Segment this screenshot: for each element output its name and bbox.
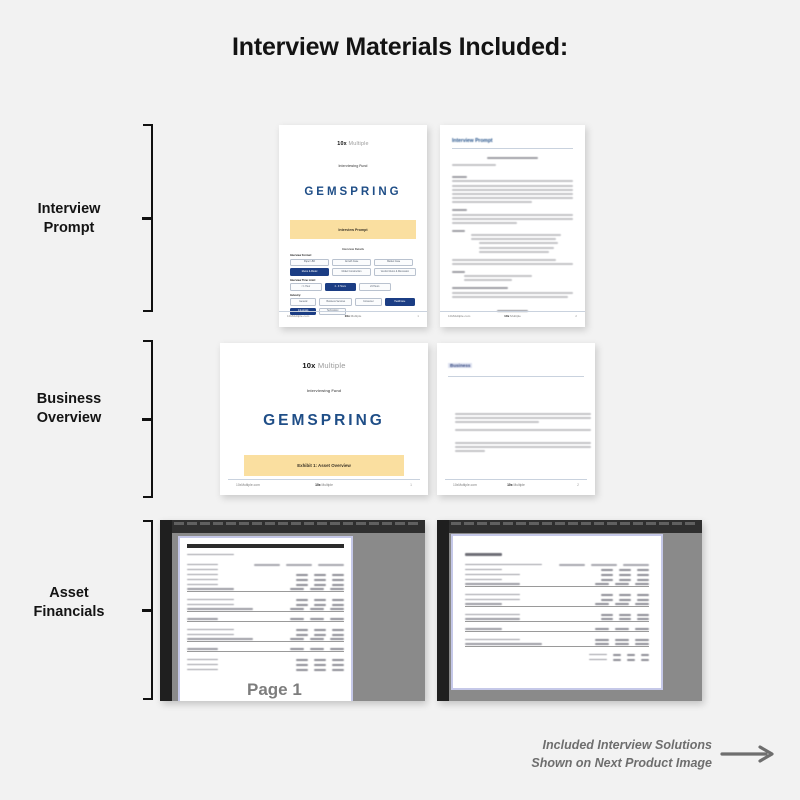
doc-subbrand: Interviewing Fund [231,388,417,393]
footer-note-line1: Included Interview Solutions [531,737,712,755]
pill-option-selected[interactable]: Memo & Model [290,268,329,275]
doc-banner-exhibit: Exhibit 1: Asset Overview [244,455,404,476]
pill-option-selected[interactable]: 2 - 3 Hours [325,283,357,290]
pill-option[interactable]: < 1 Hour [290,283,322,290]
doc-footer-page-number: 1 [375,314,419,318]
section-label-line1: Business [10,390,128,409]
spreadsheet-row-gutter [160,520,172,701]
doc-brand: 10x Multiple [231,361,417,370]
pill-row: < 1 Hour 2 - 3 Hours 24 Hours [290,283,416,290]
pill-row: General Business Services Consumer Healt… [290,298,416,305]
section-business-overview: Business Overview 10x Multiple Interview… [0,338,800,503]
section-label-asset-financials: Asset Financials [10,584,128,622]
doc-brand: 10x Multiple [290,141,416,147]
doc-thumbnail-overview-cover[interactable]: 10x Multiple Interviewing Fund GEMSPRING… [220,343,428,495]
doc-pill-groups: Interview Format: Paper LBO Growth Case … [290,254,416,315]
doc-thumbnail-overview-page2[interactable]: Business 10xMultiple.com 10x Multiple 2 [437,343,595,495]
pill-option[interactable]: General [290,298,316,305]
spreadsheet-page [451,534,663,690]
spreadsheet-ruler [174,522,421,525]
arrow-right-icon [720,744,778,764]
doc-heading: Business [448,363,472,368]
spreadsheet-ruler [451,522,698,525]
section-label-line1: Interview [10,200,128,219]
bracket-business-overview [136,340,153,498]
doc-footer-url: 10xMultiple.com [236,483,295,487]
doc-footer-brand: 10x Multiple [331,314,375,318]
pill-option[interactable]: Business Services [319,298,352,305]
spreadsheet-page [178,536,353,701]
pill-option[interactable]: Market Case [374,259,413,266]
doc-footer-page-number: 2 [537,483,579,487]
doc-heading: Interview Prompt [452,138,573,144]
doc-footer: 10xMultiple.com 10x Multiple 2 [440,311,585,320]
doc-footer: 10xMultiple.com 10x Multiple 1 [228,479,420,489]
pill-group-label: Industry: [290,294,416,297]
section-label-business-overview: Business Overview [10,390,128,428]
section-asset-financials: Asset Financials [0,512,800,704]
pill-group-label: Interview Format: [290,254,416,257]
spreadsheet-thumbnail-financials-2[interactable] [437,520,702,701]
spreadsheet-page-watermark: Page 1 [247,680,302,700]
pill-option-selected[interactable]: Healthcare [385,298,415,305]
pill-option[interactable]: Paper LBO [290,259,329,266]
doc-thumbnail-prompt-cover[interactable]: 10x Multiple Interviewing Fund GEMSPRING… [279,125,427,327]
doc-footer-brand: 10x Multiple [495,483,537,487]
page-title: Interview Materials Included: [0,33,800,62]
doc-subbrand: Interviewing Fund [290,164,416,168]
doc-thumbnail-prompt-page2[interactable]: Interview Prompt [440,125,585,327]
doc-footer: 10xMultiple.com 10x Multiple 2 [445,479,587,489]
doc-details-heading: Interview Details [290,247,416,251]
section-label-line2: Overview [10,409,128,428]
doc-banner-interview-prompt: Interview Prompt [290,220,416,239]
doc-body-text [448,413,584,452]
doc-footer-url: 10xMultiple.com [287,314,331,318]
pill-option[interactable]: 24 Hours [359,283,391,290]
footer-note: Included Interview Solutions Shown on Ne… [531,737,712,773]
doc-footer-brand: 10x Multiple [295,483,354,487]
spreadsheet-row-gutter [437,520,449,701]
doc-body-text [452,157,573,298]
footer-note-line2: Shown on Next Product Image [531,755,712,773]
section-label-line2: Prompt [10,219,128,238]
spreadsheet-thumbnail-financials-1[interactable]: Page 1 [160,520,425,701]
section-label-line1: Asset [10,584,128,603]
section-label-interview-prompt: Interview Prompt [10,200,128,238]
bracket-asset-financials [136,520,153,700]
doc-footer-url: 10xMultiple.com [453,483,495,487]
sheet-title-bar [187,544,344,548]
doc-footer-url: 10xMultiple.com [448,314,491,318]
section-label-line2: Financials [10,603,128,622]
doc-footer-page-number: 1 [353,483,412,487]
bracket-interview-prompt [136,124,153,312]
doc-logo: GEMSPRING [231,412,417,430]
doc-footer-page-number: 2 [534,314,577,318]
pill-row: Memo & Model Model Construction Vendor M… [290,268,416,275]
doc-footer: 10xMultiple.com 10x Multiple 1 [279,311,427,320]
pill-option[interactable]: Consumer [355,298,381,305]
pill-row: Paper LBO Growth Case Market Case [290,259,416,266]
doc-footer-brand: 10x Multiple [491,314,534,318]
section-interview-prompt: Interview Prompt 10x Multiple Interviewi… [0,122,800,332]
pill-group-label: Interview Time Limit: [290,279,416,282]
doc-logo: GEMSPRING [290,186,416,198]
pill-option[interactable]: Vendor Memo & Discussion [374,268,416,275]
pill-option[interactable]: Model Construction [332,268,371,275]
pill-option[interactable]: Growth Case [332,259,371,266]
